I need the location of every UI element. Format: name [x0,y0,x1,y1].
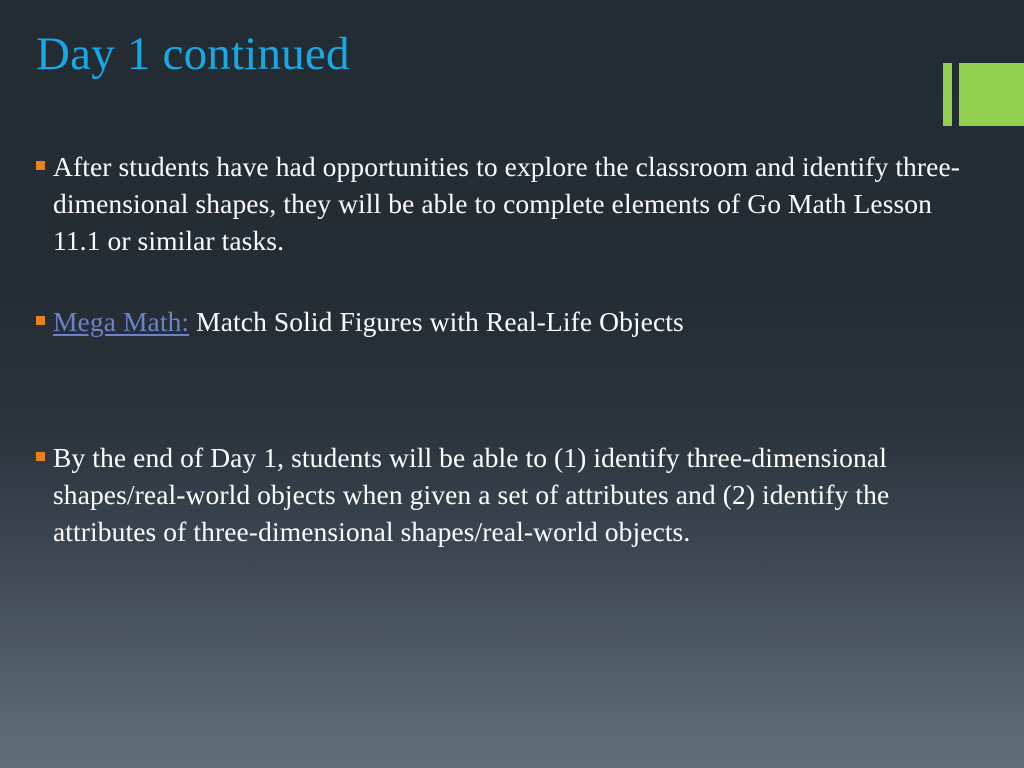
slide-body: After students have had opportunities to… [36,148,976,550]
bullet-list-item: After students have had opportunities to… [36,148,976,259]
mega-math-hyperlink[interactable]: Mega Math: [53,306,189,337]
bullet-square-icon [36,452,45,461]
bullet-square-icon [36,161,45,170]
bullet-spacer [36,340,976,439]
bullet-item-text: By the end of Day 1, students will be ab… [53,439,969,550]
bullet-item-text-remainder: Match Solid Figures with Real-Life Objec… [189,306,684,337]
bullet-list-item: By the end of Day 1, students will be ab… [36,439,976,550]
bullet-item-text: After students have had opportunities to… [53,148,973,259]
accent-thin-bar-shape [943,63,952,126]
bullet-square-icon [36,316,45,325]
bullet-spacer [36,259,976,303]
presentation-slide: Day 1 continued After students have had … [0,0,1024,768]
slide-title: Day 1 continued [36,25,350,83]
bullet-list-item: Mega Math: Match Solid Figures with Real… [36,303,976,340]
accent-block-shape [959,63,1024,126]
bullet-item-text: Mega Math: Match Solid Figures with Real… [53,303,973,340]
